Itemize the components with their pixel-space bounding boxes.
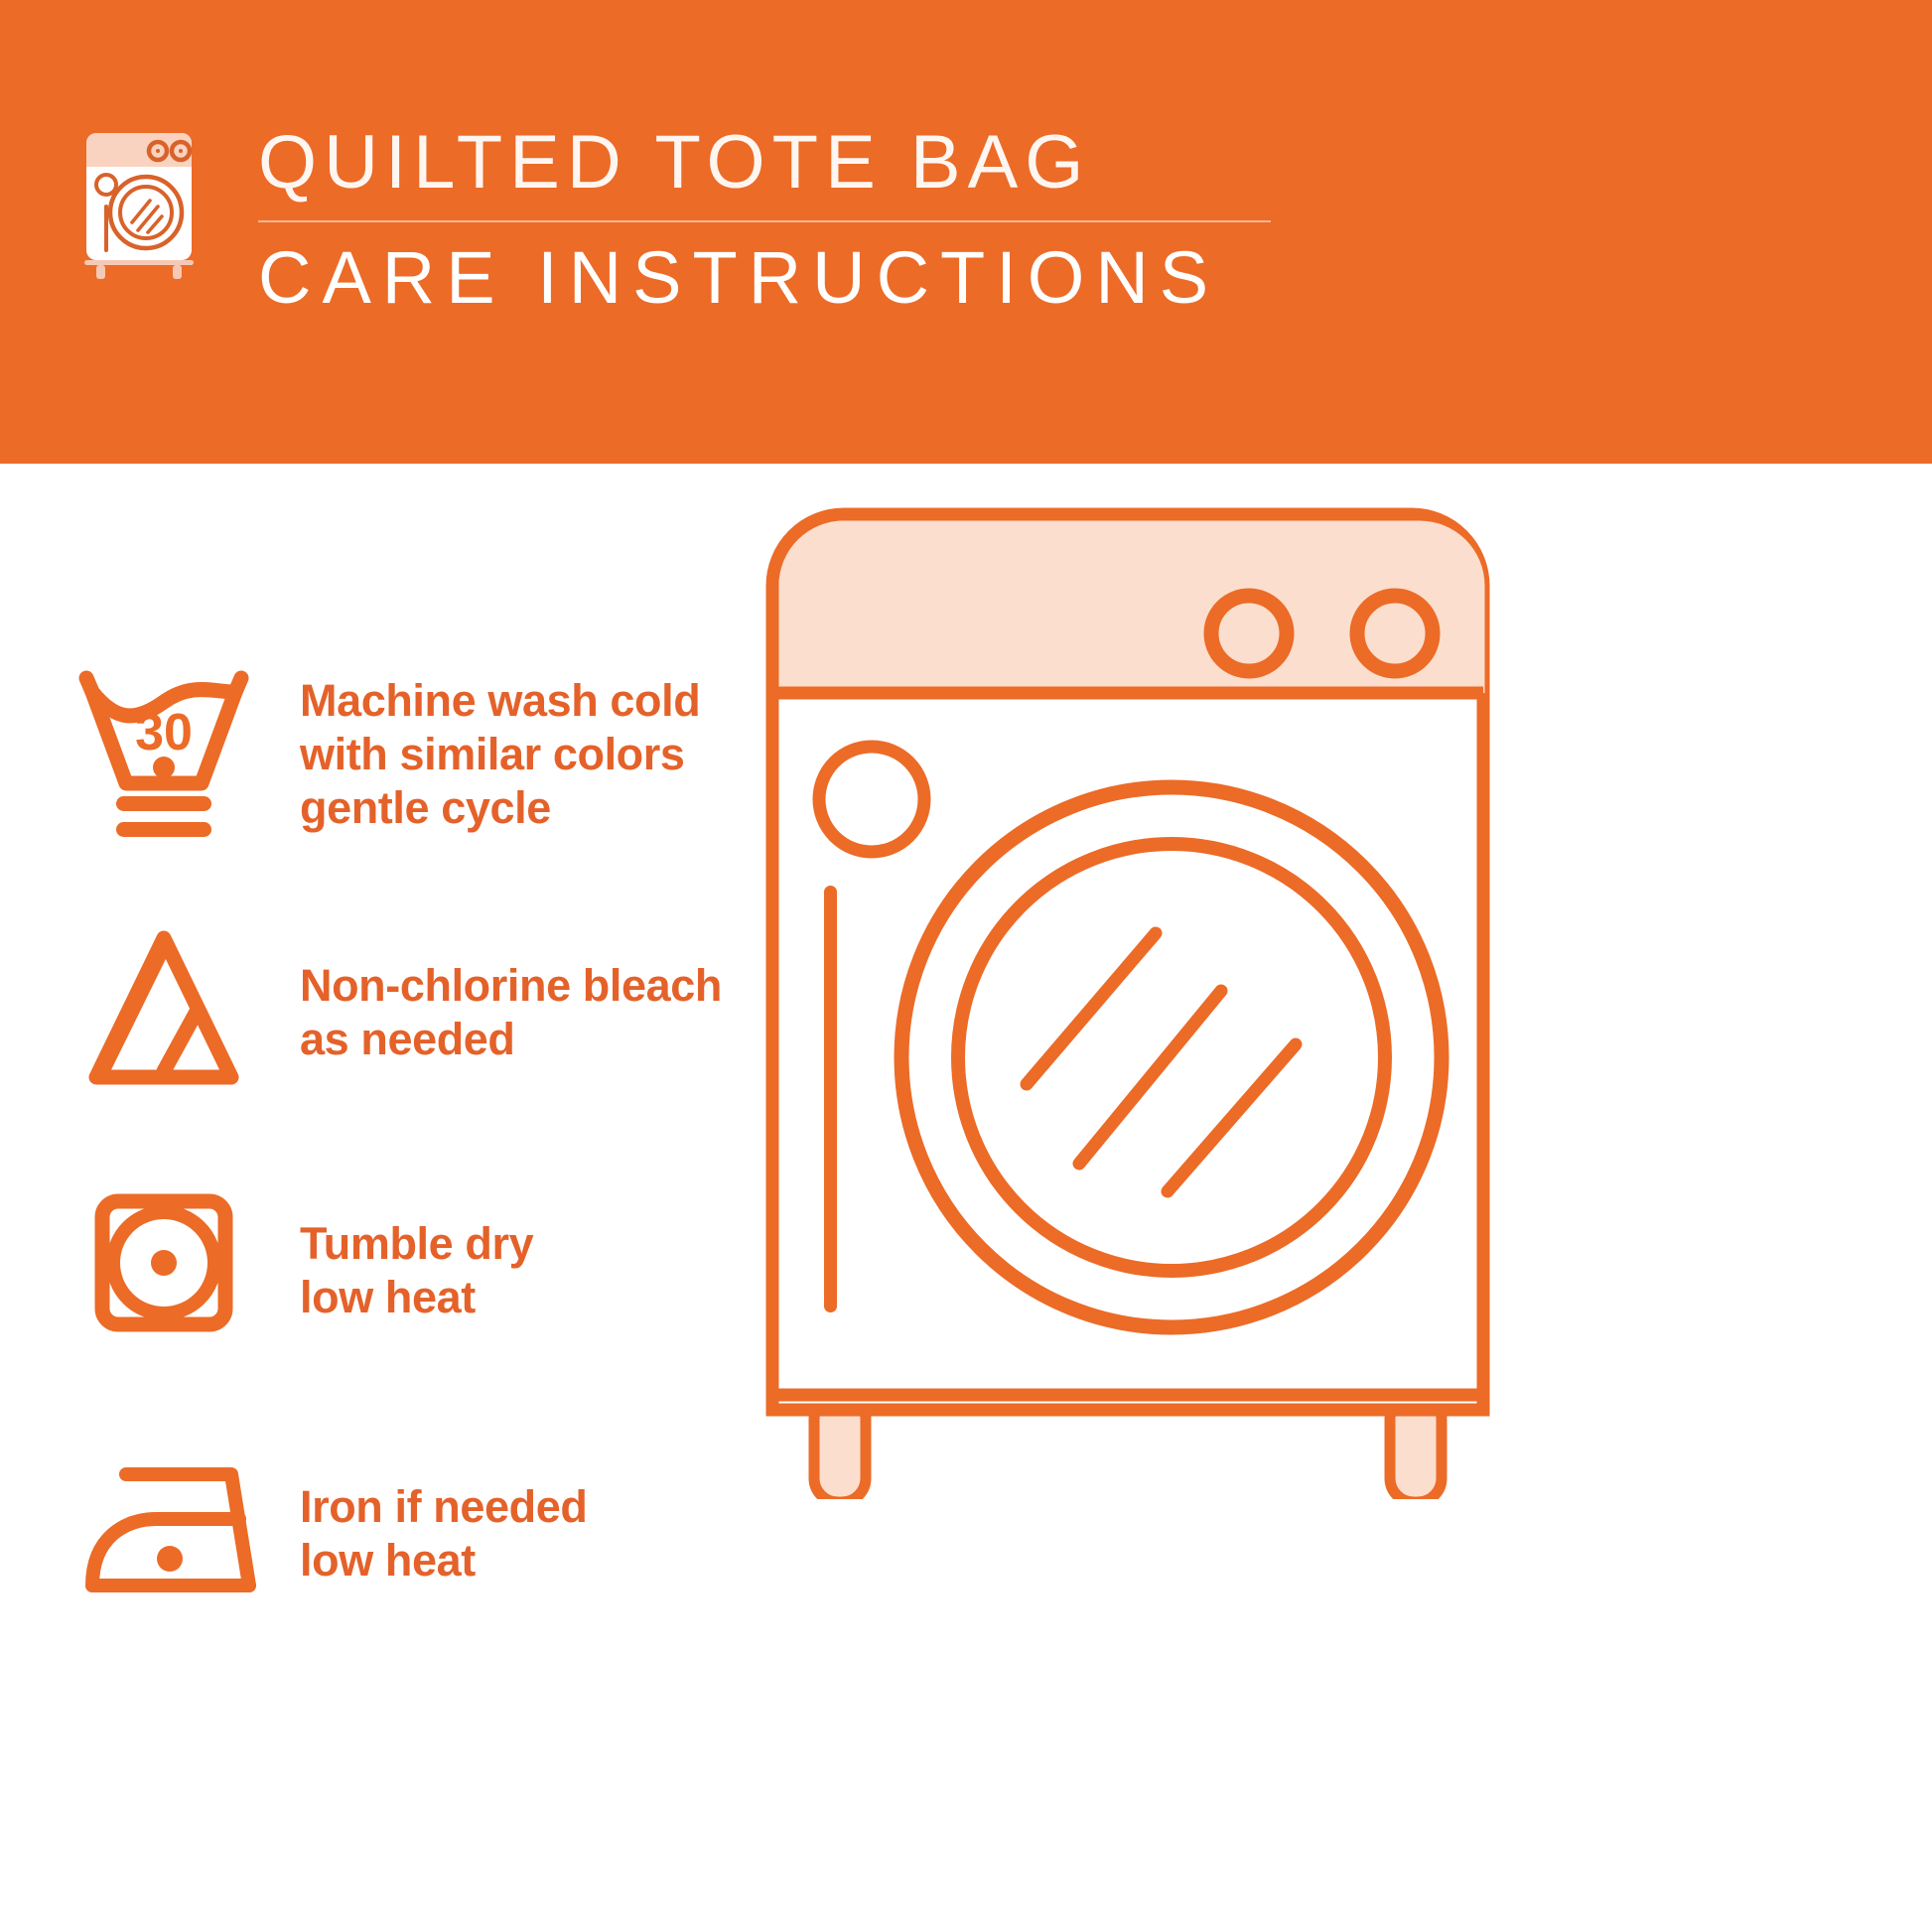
washing-machine-icon xyxy=(74,123,204,282)
knob-right xyxy=(1357,596,1433,671)
title-divider xyxy=(258,220,1271,222)
wash-dot xyxy=(153,757,175,778)
care-label-line: Tumble dry xyxy=(300,1217,533,1271)
indicator-light xyxy=(819,747,924,852)
page-subtitle: CARE INSTRUCTIONS xyxy=(258,238,1271,318)
washing-machine-illustration xyxy=(755,496,1549,1499)
care-row-iron: Iron if needed low heat xyxy=(60,1442,587,1625)
care-label-line: low heat xyxy=(300,1534,587,1587)
tumble-dry-low-heat-icon xyxy=(60,1178,268,1362)
care-label-line: Iron if needed xyxy=(300,1480,587,1534)
care-row-machine-wash-label: Machine wash cold with similar colors ge… xyxy=(300,674,700,835)
care-row-machine-wash: 30 Machine wash cold with similar colors… xyxy=(60,662,700,846)
care-label-line: Non-chlorine bleach xyxy=(300,959,722,1013)
care-label-line: as needed xyxy=(300,1013,722,1066)
wash-tub-30-gentle-icon: 30 xyxy=(60,662,268,846)
page-title: QUILTED TOTE BAG xyxy=(258,121,1271,205)
care-row-tumble-dry: Tumble dry low heat xyxy=(60,1178,533,1362)
detergent-slot xyxy=(824,886,837,1312)
header-banner: QUILTED TOTE BAG CARE INSTRUCTIONS xyxy=(0,0,1932,464)
header-text-block: QUILTED TOTE BAG CARE INSTRUCTIONS xyxy=(258,121,1271,318)
care-row-bleach: Non-chlorine bleach as needed xyxy=(60,920,722,1104)
care-label-line: Machine wash cold xyxy=(300,674,700,728)
bleach-triangle-nonchlorine-icon xyxy=(60,920,268,1104)
care-row-bleach-label: Non-chlorine bleach as needed xyxy=(300,959,722,1066)
iron-low-heat-icon xyxy=(60,1442,268,1625)
care-label-line: with similar colors xyxy=(300,728,700,781)
header-content: QUILTED TOTE BAG CARE INSTRUCTIONS xyxy=(74,121,1271,318)
care-row-iron-label: Iron if needed low heat xyxy=(300,1480,587,1587)
wash-temperature-value: 30 xyxy=(135,704,193,761)
care-instructions-poster: QUILTED TOTE BAG CARE INSTRUCTIONS 30 xyxy=(0,0,1932,1932)
care-row-tumble-dry-label: Tumble dry low heat xyxy=(300,1217,533,1324)
care-label-line: low heat xyxy=(300,1271,533,1324)
care-label-line: gentle cycle xyxy=(300,781,700,835)
knob-left xyxy=(1211,596,1287,671)
